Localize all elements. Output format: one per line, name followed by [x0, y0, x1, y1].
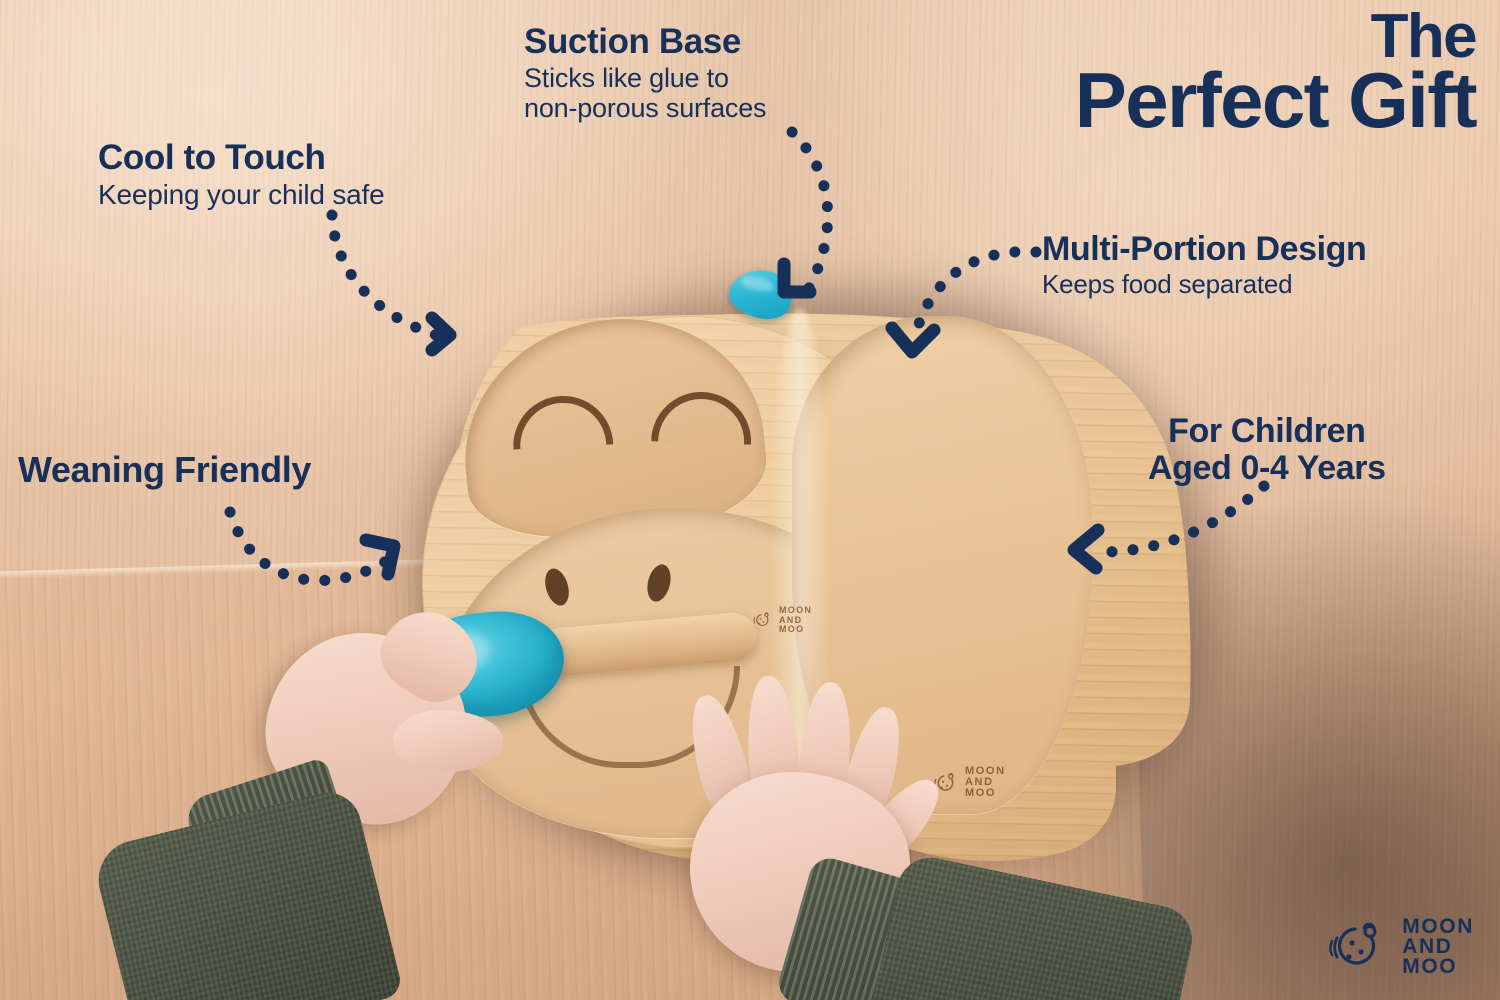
annotation-suction-base: Suction Base Sticks like glue to non-por…	[524, 24, 766, 123]
plate-engraved-logo-spoon: MOON AND MOO	[752, 606, 812, 635]
annotation-weaning-friendly: Weaning Friendly	[18, 452, 311, 489]
annotation-for-children: For Children Aged 0-4 Years	[1148, 414, 1386, 485]
arrow-multi-portion	[876, 232, 1046, 362]
brand-line-1: MOON	[1402, 917, 1474, 937]
brand-line-3: MOO	[1402, 957, 1474, 977]
annotation-multi-portion: Multi-Portion Design Keeps food separate…	[1042, 232, 1366, 299]
product-infographic: MOON AND MOO MOON AND MOO	[0, 0, 1500, 1000]
cool-to-touch-subtitle: Keeping your child safe	[98, 179, 384, 210]
suction-base-subtitle-line-2: non-porous surfaces	[524, 93, 766, 123]
brand-line-2: AND	[1402, 937, 1474, 957]
arrow-weaning-friendly	[222, 506, 422, 606]
hero-line-2: Perfect Gift	[1075, 65, 1476, 137]
baby-sleeve-left	[172, 738, 534, 1000]
brand-logo: MOON AND MOO	[1326, 916, 1474, 978]
cool-to-touch-title: Cool to Touch	[98, 140, 384, 176]
arrow-suction-base	[736, 126, 886, 306]
suction-base-title: Suction Base	[524, 24, 766, 60]
weaning-friendly-title: Weaning Friendly	[18, 452, 311, 489]
arrow-for-children	[1056, 482, 1276, 592]
engraving-line-3: MOO	[965, 788, 1006, 799]
multi-portion-title: Multi-Portion Design	[1042, 232, 1366, 267]
engraving-line-3: MOO	[779, 625, 812, 635]
for-children-title-line-2: Aged 0-4 Years	[1148, 451, 1386, 486]
hero-title: The Perfect Gift	[1075, 8, 1476, 137]
for-children-title-line-1: For Children	[1148, 414, 1386, 449]
multi-portion-subtitle: Keeps food separated	[1042, 270, 1366, 299]
arrow-cool-to-touch	[320, 215, 510, 355]
suction-base-subtitle-line-1: Sticks like glue to	[524, 63, 766, 93]
moon-cow-logo-icon	[1326, 916, 1388, 978]
annotation-cool-to-touch: Cool to Touch Keeping your child safe	[98, 140, 384, 210]
